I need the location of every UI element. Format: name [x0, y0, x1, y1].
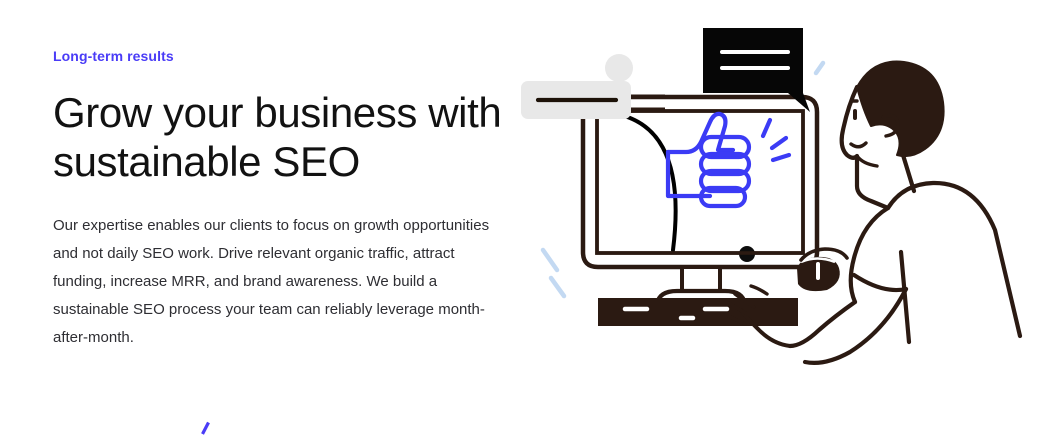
seo-hero-section: Long-term results Grow your business wit… [0, 0, 1040, 436]
avatar-dot-icon [605, 54, 633, 82]
keyboard-icon [598, 298, 798, 326]
body-paragraph: Our expertise enables our clients to foc… [53, 212, 493, 352]
hero-illustration [505, 0, 1040, 436]
blue-tick-decoration [200, 421, 211, 436]
illustration-svg [505, 0, 1040, 436]
eyebrow-label: Long-term results [53, 46, 505, 66]
copy-column: Long-term results Grow your business wit… [53, 46, 505, 352]
notification-card [521, 54, 633, 119]
mouse-icon [797, 257, 840, 291]
page-title: Grow your business with sustainable SEO [53, 88, 505, 186]
